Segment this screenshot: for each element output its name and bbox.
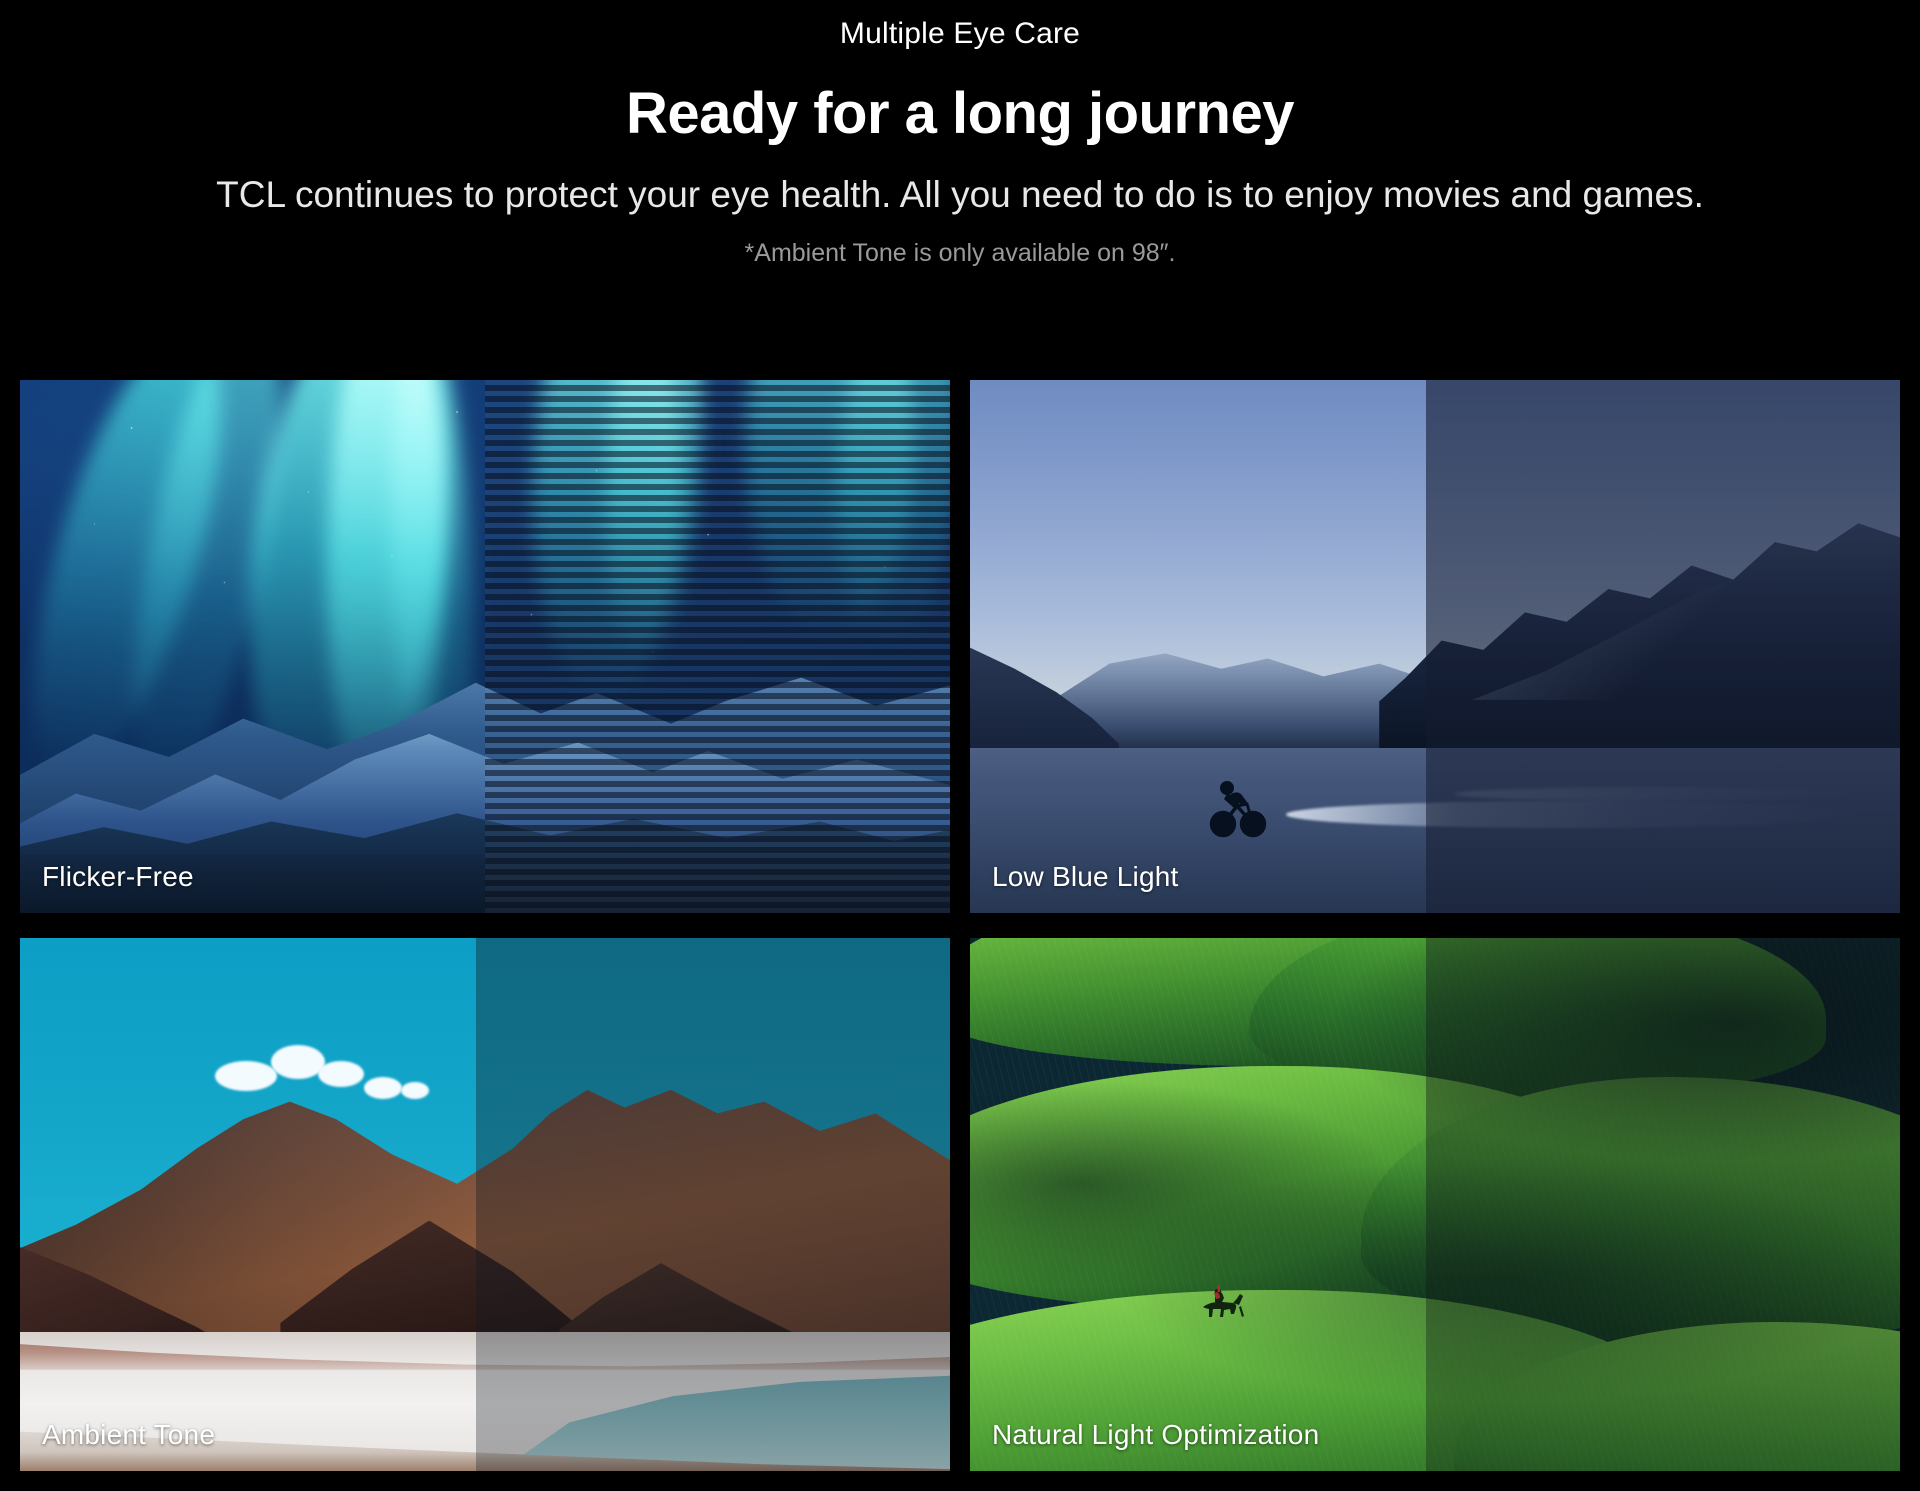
horse-rider-silhouette-icon xyxy=(1193,1279,1249,1325)
cloud xyxy=(401,1082,429,1099)
feature-tile-natural-light-optimization[interactable]: Natural Light Optimization xyxy=(970,938,1900,1471)
natural-light-overlay xyxy=(1426,938,1900,1471)
feature-tile-low-blue-light[interactable]: Low Blue Light xyxy=(970,380,1900,913)
cloud xyxy=(215,1061,277,1091)
feature-tile-grid: Flicker-Free xyxy=(20,380,1900,1471)
cloud xyxy=(318,1061,364,1087)
section-subhead: TCL continues to protect your eye health… xyxy=(180,170,1740,219)
blue-light-filter-overlay xyxy=(1426,380,1900,913)
section-header: Multiple Eye Care Ready for a long journ… xyxy=(0,0,1920,269)
cloud xyxy=(364,1077,402,1099)
cloud xyxy=(271,1045,325,1079)
section-footnote: *Ambient Tone is only available on 98″. xyxy=(0,237,1920,270)
tile-label-flicker-free: Flicker-Free xyxy=(42,861,194,893)
section-eyebrow: Multiple Eye Care xyxy=(0,14,1920,53)
tile-label-low-blue-light: Low Blue Light xyxy=(992,861,1178,893)
page-title: Ready for a long journey xyxy=(0,81,1920,148)
cyclist-silhouette-icon xyxy=(1207,770,1269,844)
scanline-overlay xyxy=(485,380,950,913)
eye-care-section: Multiple Eye Care Ready for a long journ… xyxy=(0,0,1920,1491)
tile-label-natural-light-optimization: Natural Light Optimization xyxy=(992,1419,1319,1451)
feature-tile-ambient-tone[interactable]: Ambient Tone xyxy=(20,938,950,1471)
feature-tile-flicker-free[interactable]: Flicker-Free xyxy=(20,380,950,913)
tile-label-ambient-tone: Ambient Tone xyxy=(42,1419,215,1451)
ambient-tone-overlay xyxy=(476,938,950,1471)
